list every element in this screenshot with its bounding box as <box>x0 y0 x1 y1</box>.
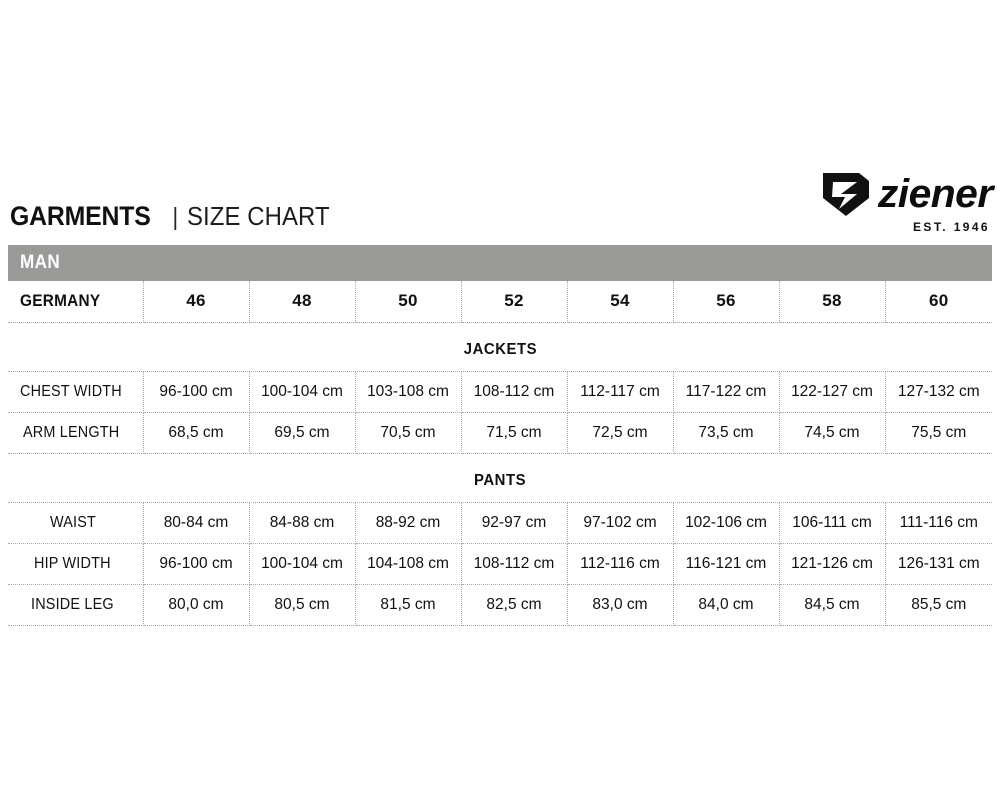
size-cell: 50 <box>355 281 461 322</box>
table-row: ARM LENGTH 68,5 cm 69,5 cm 70,5 cm 71,5 … <box>8 412 992 453</box>
size-chart-table: MAN GERMANY 46 48 50 52 54 56 58 60 JACK… <box>8 245 992 626</box>
size-cell: 52 <box>461 281 567 322</box>
gender-band-cell: MAN <box>8 245 992 281</box>
logo-tagline: EST. 1946 <box>913 220 990 234</box>
spacer-cell <box>8 453 992 461</box>
section-header-jackets: JACKETS <box>8 330 992 371</box>
measure-cell: 96-100 cm <box>143 371 249 412</box>
size-cell: 58 <box>779 281 885 322</box>
page-title: GARMENTS | SIZE CHART <box>10 201 343 238</box>
measure-cell: 121-126 cm <box>779 543 885 584</box>
measure-cell: 117-122 cm <box>673 371 779 412</box>
measure-cell: 73,5 cm <box>673 412 779 453</box>
ziener-shield-z-icon <box>819 170 873 218</box>
title-size-chart: SIZE CHART <box>187 201 330 232</box>
measure-cell: 112-116 cm <box>567 543 673 584</box>
row-label: INSIDE LEG <box>8 584 143 625</box>
measure-cell: 82,5 cm <box>461 584 567 625</box>
measure-cell: 106-111 cm <box>779 502 885 543</box>
measure-cell: 80,0 cm <box>143 584 249 625</box>
measure-cell: 111-116 cm <box>885 502 992 543</box>
measure-cell: 100-104 cm <box>249 371 355 412</box>
page-header: GARMENTS | SIZE CHART ziener EST. 1946 <box>0 168 1000 238</box>
size-chart-table-wrap: MAN GERMANY 46 48 50 52 54 56 58 60 JACK… <box>8 245 992 626</box>
size-cell: 48 <box>249 281 355 322</box>
table-row: HIP WIDTH 96-100 cm 100-104 cm 104-108 c… <box>8 543 992 584</box>
row-label: WAIST <box>8 502 143 543</box>
spacer-row <box>8 322 992 330</box>
title-separator: | <box>172 203 178 232</box>
size-cell: 56 <box>673 281 779 322</box>
measure-cell: 122-127 cm <box>779 371 885 412</box>
measure-cell: 108-112 cm <box>461 371 567 412</box>
measure-cell: 97-102 cm <box>567 502 673 543</box>
gender-band-label: MAN <box>20 252 60 274</box>
measure-cell: 84,0 cm <box>673 584 779 625</box>
measure-cell: 74,5 cm <box>779 412 885 453</box>
measure-cell: 85,5 cm <box>885 584 992 625</box>
size-header-row: GERMANY 46 48 50 52 54 56 58 60 <box>8 281 992 322</box>
section-header-cell: PANTS <box>8 461 992 502</box>
measure-cell: 108-112 cm <box>461 543 567 584</box>
measure-cell: 104-108 cm <box>355 543 461 584</box>
measure-cell: 75,5 cm <box>885 412 992 453</box>
measure-cell: 112-117 cm <box>567 371 673 412</box>
measure-cell: 88-92 cm <box>355 502 461 543</box>
logo-row: ziener <box>819 170 992 218</box>
table-row: CHEST WIDTH 96-100 cm 100-104 cm 103-108… <box>8 371 992 412</box>
measure-cell: 81,5 cm <box>355 584 461 625</box>
row-label: CHEST WIDTH <box>8 371 143 412</box>
measure-cell: 70,5 cm <box>355 412 461 453</box>
size-cell: 60 <box>885 281 992 322</box>
section-header-cell: JACKETS <box>8 330 992 371</box>
spacer-cell <box>8 322 992 330</box>
measure-cell: 80,5 cm <box>249 584 355 625</box>
measure-cell: 69,5 cm <box>249 412 355 453</box>
table-row: INSIDE LEG 80,0 cm 80,5 cm 81,5 cm 82,5 … <box>8 584 992 625</box>
measure-cell: 92-97 cm <box>461 502 567 543</box>
gender-band-row: MAN <box>8 245 992 281</box>
size-chart-page: GARMENTS | SIZE CHART ziener EST. 1946 <box>0 0 1000 800</box>
measure-cell: 72,5 cm <box>567 412 673 453</box>
measure-cell: 68,5 cm <box>143 412 249 453</box>
size-row-label: GERMANY <box>8 281 143 322</box>
measure-cell: 100-104 cm <box>249 543 355 584</box>
measure-cell: 116-121 cm <box>673 543 779 584</box>
row-label: HIP WIDTH <box>8 543 143 584</box>
measure-cell: 71,5 cm <box>461 412 567 453</box>
title-garments: GARMENTS <box>10 201 151 232</box>
section-header-pants: PANTS <box>8 461 992 502</box>
spacer-row <box>8 453 992 461</box>
measure-cell: 84,5 cm <box>779 584 885 625</box>
measure-cell: 126-131 cm <box>885 543 992 584</box>
table-row: WAIST 80-84 cm 84-88 cm 88-92 cm 92-97 c… <box>8 502 992 543</box>
measure-cell: 83,0 cm <box>567 584 673 625</box>
measure-cell: 84-88 cm <box>249 502 355 543</box>
size-cell: 46 <box>143 281 249 322</box>
row-label: ARM LENGTH <box>8 412 143 453</box>
measure-cell: 102-106 cm <box>673 502 779 543</box>
logo-wordmark: ziener <box>878 175 993 213</box>
measure-cell: 127-132 cm <box>885 371 992 412</box>
measure-cell: 103-108 cm <box>355 371 461 412</box>
measure-cell: 96-100 cm <box>143 543 249 584</box>
measure-cell: 80-84 cm <box>143 502 249 543</box>
size-cell: 54 <box>567 281 673 322</box>
ziener-logo: ziener EST. 1946 <box>819 170 992 238</box>
